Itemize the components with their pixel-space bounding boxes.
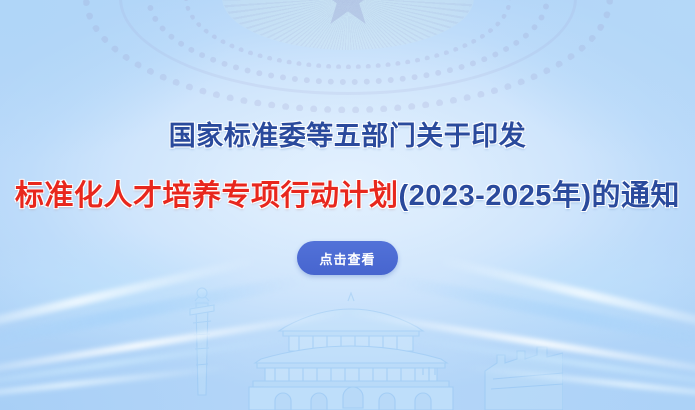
banner-title-line-2: 标准化人才培养专项行动计划(2023-2025年)的通知: [15, 182, 680, 211]
view-details-button[interactable]: 点击查看: [297, 241, 398, 275]
banner-title-period-suffix: (2023-2025年)的通知: [399, 180, 681, 212]
banner-content: 国家标准委等五部门关于印发 标准化人才培养专项行动计划(2023-2025年)的…: [0, 0, 695, 410]
banner-title-line-1: 国家标准委等五部门关于印发: [169, 123, 527, 150]
banner-title-plan-name: 标准化人才培养专项行动计划: [15, 180, 399, 212]
announcement-banner: 国家标准委等五部门关于印发 标准化人才培养专项行动计划(2023-2025年)的…: [0, 0, 695, 410]
